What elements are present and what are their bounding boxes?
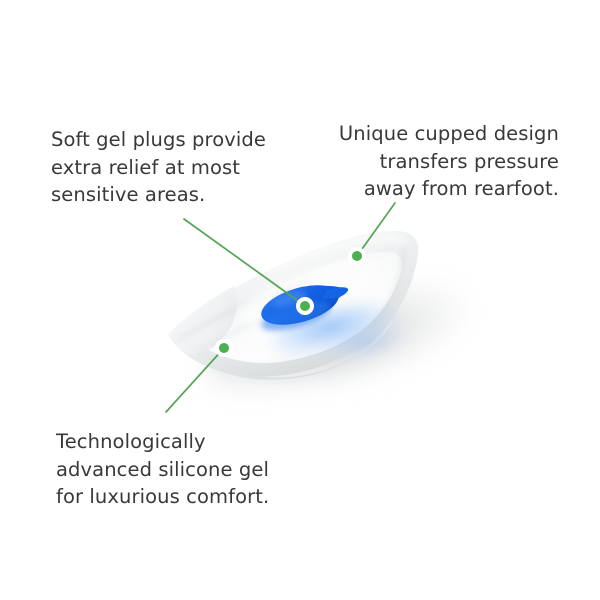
callout-dots <box>215 247 366 357</box>
callout-dot-silicone-gel[interactable] <box>219 343 229 353</box>
leader-line-gel-plugs <box>184 219 305 306</box>
leader-line-cupped-design <box>357 203 395 256</box>
callout-dot-cupped-design[interactable] <box>352 251 362 261</box>
leader-line-silicone-gel <box>166 348 224 412</box>
callout-dot-gel-plugs[interactable] <box>300 301 310 311</box>
callout-label-cupped-design: Unique cupped design transfers pressure … <box>330 120 559 203</box>
leader-lines <box>166 203 395 412</box>
product-feature-image: Soft gel plugs provide extra relief at m… <box>0 0 600 600</box>
callout-label-silicone-gel: Technologically advanced silicone gel fo… <box>56 428 306 511</box>
callout-label-gel-plugs: Soft gel plugs provide extra relief at m… <box>51 126 291 209</box>
